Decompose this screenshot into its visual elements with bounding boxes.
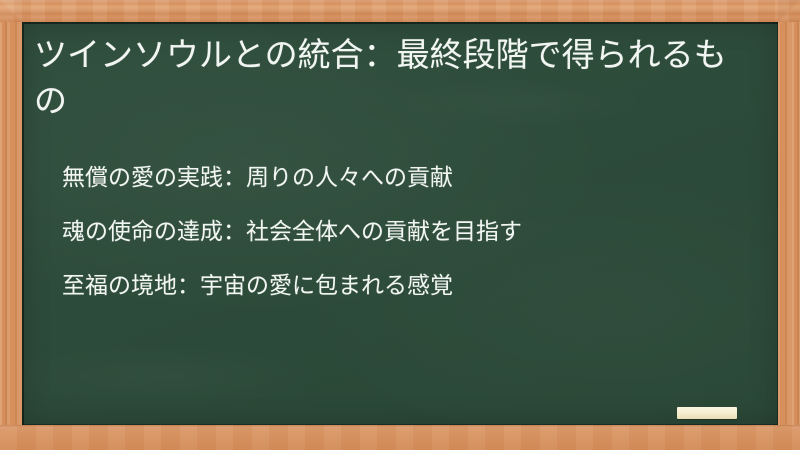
chalkboard-content: ツインソウルとの統合：最終段階で得られるもの 無償の愛の実践：周りの人々への貢献… xyxy=(22,22,778,425)
frame-bottom-ledge xyxy=(0,425,800,450)
slide-title: ツインソウルとの統合：最終段階で得られるもの xyxy=(34,32,750,124)
bullet-item-3: 至福の境地：宇宙の愛に包まれる感覚 xyxy=(62,270,752,300)
bullet-item-2: 魂の使命の達成：社会全体への貢献を目指す xyxy=(62,216,752,246)
slide-canvas: ツインソウルとの統合：最終段階で得られるもの 無償の愛の実践：周りの人々への貢献… xyxy=(0,0,800,450)
bullet-list: 無償の愛の実践：周りの人々への貢献 魂の使命の達成：社会全体への貢献を目指す 至… xyxy=(62,162,752,300)
frame-top-rail xyxy=(0,0,800,22)
frame-corner-top-left xyxy=(0,0,22,22)
bullet-item-1: 無償の愛の実践：周りの人々への貢献 xyxy=(62,162,752,192)
chalkboard-surface: ツインソウルとの統合：最終段階で得られるもの 無償の愛の実践：周りの人々への貢献… xyxy=(22,22,778,425)
chalk-stick-icon xyxy=(677,407,737,419)
frame-corner-top-right xyxy=(778,0,800,22)
